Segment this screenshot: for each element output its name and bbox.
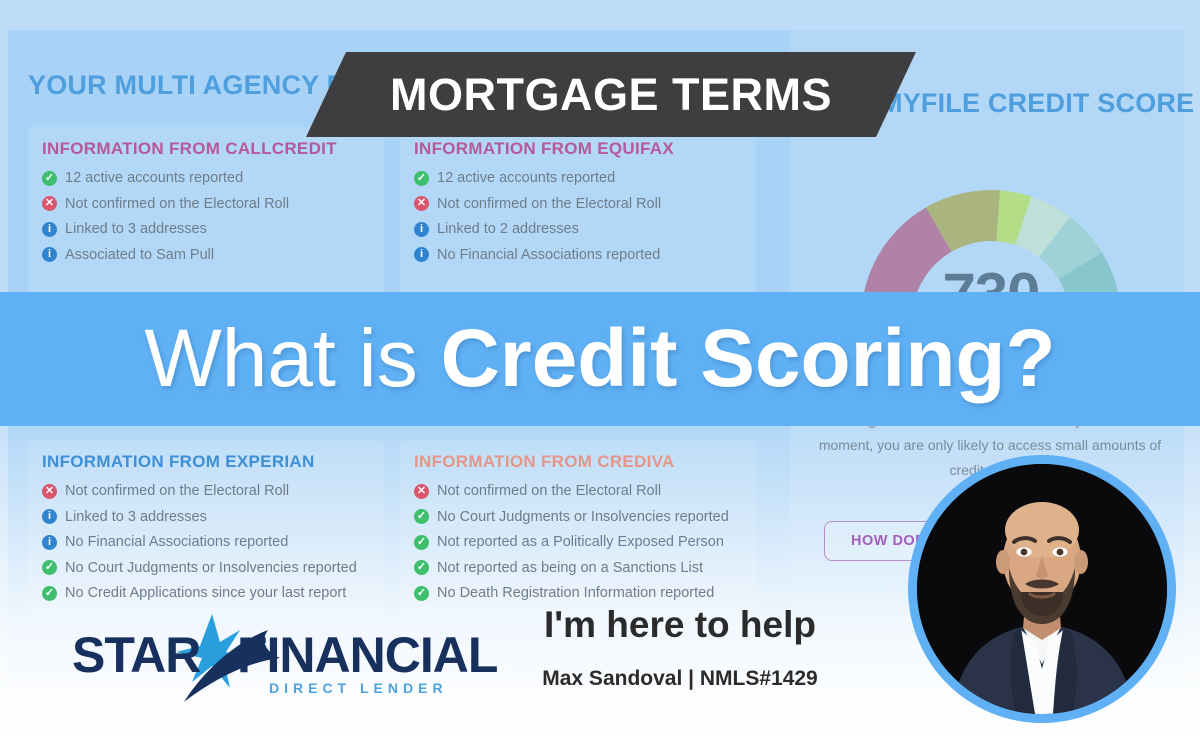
- info-circle-icon: i: [42, 247, 57, 262]
- info-circle-icon: i: [42, 535, 57, 550]
- info-circle-icon: i: [414, 247, 429, 262]
- cross-circle-icon: ✕: [42, 196, 57, 211]
- cross-circle-icon: ✕: [414, 484, 429, 499]
- list-item: ✓ 12 active accounts reported: [414, 170, 742, 186]
- check-circle-icon: ✓: [414, 535, 429, 550]
- cross-circle-icon: ✕: [42, 484, 57, 499]
- list-item: ✓ No Credit Applications since your last…: [42, 585, 370, 601]
- category-label: MORTGAGE TERMS: [390, 69, 832, 121]
- list-item: ✓ No Court Judgments or Insolvencies rep…: [42, 560, 370, 576]
- list-item: i No Financial Associations reported: [414, 247, 742, 263]
- agency-title: INFORMATION FROM EQUIFAX: [414, 139, 742, 159]
- info-circle-icon: i: [414, 222, 429, 237]
- avatar: [908, 455, 1176, 723]
- list-item: ✓ No Court Judgments or Insolvencies rep…: [414, 509, 742, 525]
- agency-title: INFORMATION FROM CALLCREDIT: [42, 139, 370, 159]
- agency-card-experian: INFORMATION FROM EXPERIAN ✕ Not confirme…: [28, 440, 384, 640]
- list-item-label: Not reported as a Politically Exposed Pe…: [437, 534, 724, 550]
- agency-line-list: ✕ Not confirmed on the Electoral Roll i …: [42, 483, 370, 601]
- list-item-label: Not reported as being on a Sanctions Lis…: [437, 560, 703, 576]
- agency-title: INFORMATION FROM EXPERIAN: [42, 452, 370, 472]
- info-circle-icon: i: [42, 509, 57, 524]
- list-item-label: No Credit Applications since your last r…: [65, 585, 346, 601]
- star-financial-logo: STAR FINANCIAL DIRECT LENDER: [22, 612, 462, 704]
- list-item: ✕ Not confirmed on the Electoral Roll: [414, 483, 742, 499]
- myfile-credit-score-heading: MYFILE CREDIT SCORE: [880, 88, 1194, 119]
- list-item: i Linked to 2 addresses: [414, 221, 742, 237]
- title-band: What is Credit Scoring?: [0, 292, 1200, 426]
- page-title-light: What is: [144, 313, 440, 404]
- list-item: ✓ Not reported as being on a Sanctions L…: [414, 560, 742, 576]
- agent-credentials: Max Sandoval | NMLS#1429: [500, 667, 860, 691]
- list-item: ✕ Not confirmed on the Electoral Roll: [414, 196, 742, 212]
- list-item-label: No Court Judgments or Insolvencies repor…: [65, 560, 357, 576]
- info-circle-icon: i: [42, 222, 57, 237]
- list-item: i Linked to 3 addresses: [42, 221, 370, 237]
- logo-word-financial: FINANCIAL: [237, 626, 497, 684]
- check-circle-icon: ✓: [42, 560, 57, 575]
- category-ribbon: MORTGAGE TERMS: [306, 52, 916, 137]
- list-item-label: Not confirmed on the Electoral Roll: [65, 196, 289, 212]
- list-item-label: Associated to Sam Pull: [65, 247, 214, 263]
- list-item: ✓ Not reported as a Politically Exposed …: [414, 534, 742, 550]
- agency-card-equifax: INFORMATION FROM EQUIFAX ✓ 12 active acc…: [400, 127, 756, 307]
- list-item-label: 12 active accounts reported: [437, 170, 615, 186]
- page-title-bold: Credit Scoring?: [441, 313, 1056, 404]
- list-item-label: Linked to 3 addresses: [65, 509, 207, 525]
- list-item-label: No Financial Associations reported: [65, 534, 288, 550]
- check-circle-icon: ✓: [42, 586, 57, 601]
- list-item-label: No Court Judgments or Insolvencies repor…: [437, 509, 729, 525]
- list-item-label: No Financial Associations reported: [437, 247, 660, 263]
- list-item-label: Linked to 3 addresses: [65, 221, 207, 237]
- logo-tagline: DIRECT LENDER: [269, 680, 448, 696]
- list-item: ✓ 12 active accounts reported: [42, 170, 370, 186]
- check-circle-icon: ✓: [414, 509, 429, 524]
- avatar-photo: [917, 464, 1167, 714]
- list-item: ✓ No Death Registration Information repo…: [414, 585, 742, 601]
- check-circle-icon: ✓: [414, 171, 429, 186]
- cross-circle-icon: ✕: [414, 196, 429, 211]
- agency-line-list: ✓ 12 active accounts reported ✕ Not conf…: [414, 170, 742, 263]
- agent-portrait-illustration: [917, 464, 1167, 714]
- list-item-label: Linked to 2 addresses: [437, 221, 579, 237]
- list-item-label: Not confirmed on the Electoral Roll: [65, 483, 289, 499]
- check-circle-icon: ✓: [414, 586, 429, 601]
- logo-word-star: STAR: [72, 626, 200, 684]
- list-item: ✕ Not confirmed on the Electoral Roll: [42, 196, 370, 212]
- list-item-label: No Death Registration Information report…: [437, 585, 714, 601]
- agency-line-list: ✕ Not confirmed on the Electoral Roll ✓ …: [414, 483, 742, 601]
- agent-headline: I'm here to help: [500, 604, 860, 646]
- agency-card-callcredit: INFORMATION FROM CALLCREDIT ✓ 12 active …: [28, 127, 384, 307]
- promotional-graphic: YOUR MULTI AGENCY REPORT MYFILE CREDIT S…: [0, 0, 1200, 742]
- list-item-label: 12 active accounts reported: [65, 170, 243, 186]
- check-circle-icon: ✓: [42, 171, 57, 186]
- list-item: ✕ Not confirmed on the Electoral Roll: [42, 483, 370, 499]
- page-title: What is Credit Scoring?: [144, 318, 1055, 400]
- list-item-label: Not confirmed on the Electoral Roll: [437, 196, 661, 212]
- check-circle-icon: ✓: [414, 560, 429, 575]
- agency-title: INFORMATION FROM CREDIVA: [414, 452, 742, 472]
- list-item: i No Financial Associations reported: [42, 534, 370, 550]
- list-item-label: Not confirmed on the Electoral Roll: [437, 483, 661, 499]
- list-item: i Associated to Sam Pull: [42, 247, 370, 263]
- list-item: i Linked to 3 addresses: [42, 509, 370, 525]
- agency-line-list: ✓ 12 active accounts reported ✕ Not conf…: [42, 170, 370, 263]
